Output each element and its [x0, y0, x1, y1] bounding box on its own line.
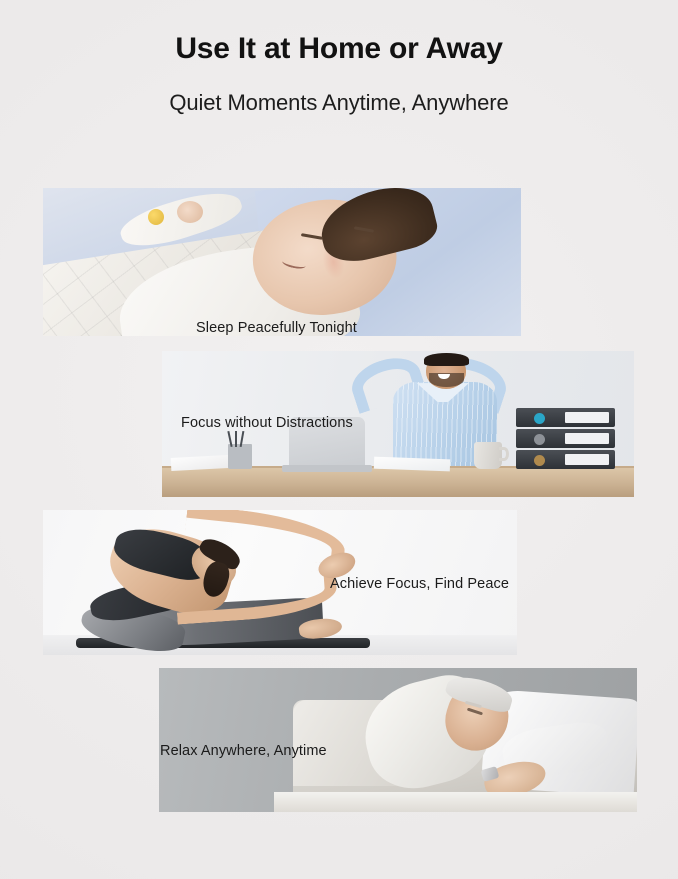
- banner-sleep-peacefully: Sleep Peacefully Tonight: [43, 188, 521, 336]
- binder: [516, 429, 615, 448]
- banner-caption: Achieve Focus, Find Peace: [330, 576, 509, 592]
- scene-sleeping-baby: [43, 188, 521, 336]
- scene-sleeping-senior: [159, 668, 637, 812]
- banner-caption: Focus without Distractions: [181, 415, 353, 431]
- baby-toy: [148, 209, 164, 225]
- binder-ring: [534, 455, 545, 466]
- mug-handle: [499, 447, 509, 461]
- desk-papers-secondary: [374, 456, 450, 470]
- pen: [227, 431, 232, 447]
- laptop-base: [282, 465, 372, 472]
- pen: [240, 431, 245, 447]
- page-subtitle: Quiet Moments Anytime, Anywhere: [0, 90, 678, 116]
- man-hair: [424, 353, 469, 366]
- binder-label: [565, 412, 610, 423]
- binder-ring: [534, 413, 545, 424]
- baby-hand: [177, 201, 203, 223]
- banner-relax-anywhere: Relax Anywhere, Anytime: [159, 668, 637, 812]
- binder-ring: [534, 434, 545, 445]
- binder-stack: [516, 405, 615, 469]
- banner-focus-without-distractions: Focus without Distractions: [162, 351, 634, 497]
- binder-label: [565, 433, 610, 444]
- banner-achieve-focus: Achieve Focus, Find Peace: [43, 510, 517, 655]
- banner-caption: Relax Anywhere, Anytime: [160, 743, 327, 759]
- promo-page: Use It at Home or Away Quiet Moments Any…: [0, 0, 678, 879]
- binder: [516, 450, 615, 469]
- coffee-mug: [474, 442, 502, 470]
- binder-label: [565, 454, 610, 465]
- binder: [516, 408, 615, 427]
- desk-surface: [162, 468, 634, 497]
- pen-holder: [228, 444, 252, 469]
- couch-base: [274, 792, 637, 812]
- page-title: Use It at Home or Away: [0, 32, 678, 66]
- banner-caption: Sleep Peacefully Tonight: [196, 320, 357, 336]
- pen: [235, 431, 237, 447]
